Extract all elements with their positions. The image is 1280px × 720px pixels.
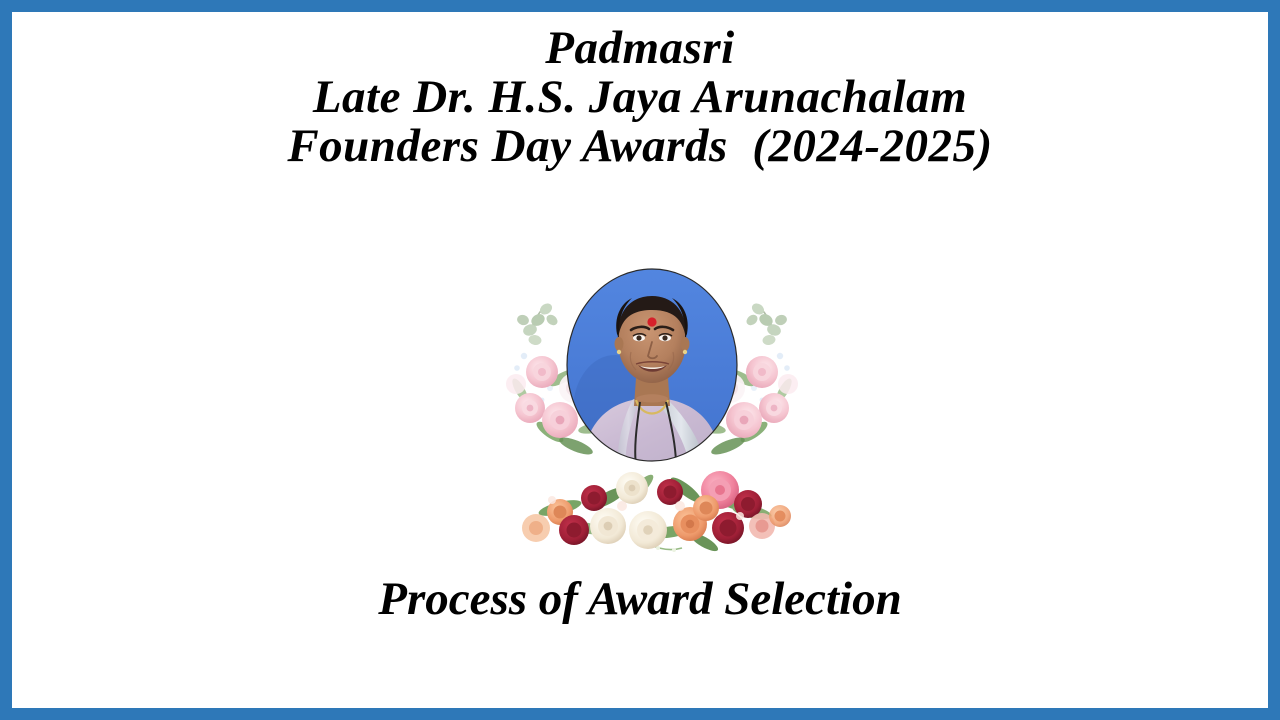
memorial-illustration	[490, 260, 814, 560]
page-title: Padmasri Late Dr. H.S. Jaya Arunachalam …	[12, 24, 1268, 171]
title-line-honoree-name: Late Dr. H.S. Jaya Arunachalam	[12, 73, 1268, 122]
slide-canvas: Padmasri Late Dr. H.S. Jaya Arunachalam …	[12, 12, 1268, 708]
slide-border-frame: Padmasri Late Dr. H.S. Jaya Arunachalam …	[0, 0, 1280, 720]
title-line-award-year: Founders Day Awards (2024-2025)	[12, 122, 1268, 171]
subtitle-block: Process of Award Selection	[12, 572, 1268, 626]
memorial-graphic	[490, 260, 814, 560]
title-line-padmasri: Padmasri	[12, 24, 1268, 73]
portrait-photo	[560, 265, 750, 470]
eucalyptus-sprig-left	[516, 301, 560, 346]
eucalyptus-sprig-right	[744, 301, 788, 346]
rose-garland-bottom	[522, 471, 791, 554]
subtitle-process-of-award-selection: Process of Award Selection	[378, 573, 902, 625]
